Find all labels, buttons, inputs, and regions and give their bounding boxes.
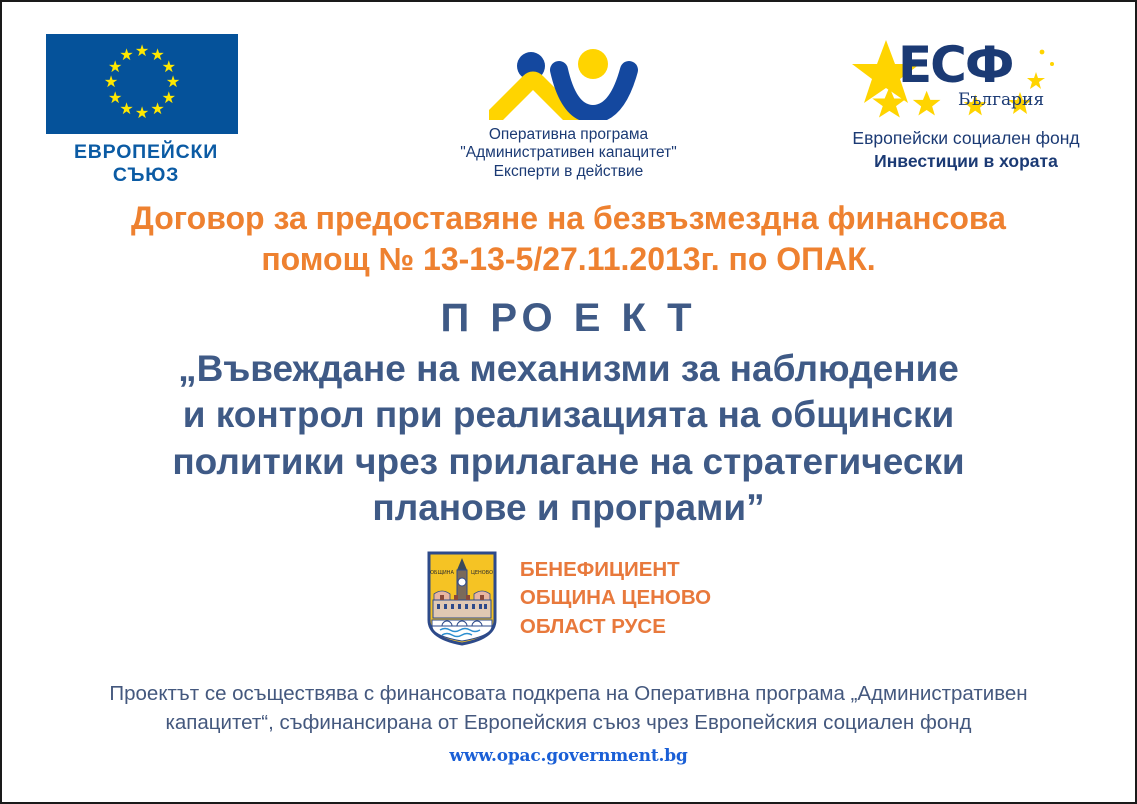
esf-country: България (958, 90, 1044, 110)
poster-canvas: ★★★★★★★★★★★★ ЕВРОПЕЙСКИ СЪЮЗ Оперативна … (0, 0, 1137, 804)
project-title-line-2: и контрол при реализацията на общински (40, 392, 1097, 438)
footer-line-1: Проектът се осъществява с финансовата по… (62, 680, 1075, 709)
eu-logo-block: ★★★★★★★★★★★★ ЕВРОПЕЙСКИ СЪЮЗ (46, 34, 246, 187)
project-title-line-4: планове и програми” (40, 485, 1097, 531)
contract-heading: Договор за предоставяне на безвъзмездна … (42, 198, 1095, 280)
opac-website-link[interactable]: www.opac.government.bg (62, 746, 1075, 766)
svg-text:ОБЩИНА: ОБЩИНА (430, 570, 454, 576)
beneficiary-line-1: БЕНЕФИЦИЕНТ (520, 556, 711, 584)
project-title: „Въвеждане на механизми за наблюдение и … (40, 346, 1097, 531)
beneficiary-block: ОБЩИНА ЦЕНОВО (2, 550, 1135, 647)
project-title-line-1: „Въвеждане на механизми за наблюдение (40, 346, 1097, 392)
esf-acronym: ЕСФ (898, 36, 1012, 94)
footer-line-2: капацитет“, съфинансирана от Европейския… (62, 709, 1075, 738)
esf-logo-block: ЕСФ България Европейски социален фонд Ин… (841, 34, 1091, 172)
opac-caption: Оперативна програма "Административен кап… (419, 126, 719, 181)
logo-header: ★★★★★★★★★★★★ ЕВРОПЕЙСКИ СЪЮЗ Оперативна … (2, 2, 1135, 192)
opac-caption-line-3: Експерти в действие (419, 163, 719, 181)
beneficiary-line-2: ОБЩИНА ЦЕНОВО (520, 584, 711, 612)
footer-disclaimer: Проектът се осъществява с финансовата по… (62, 680, 1075, 737)
esf-caption-line-2: Инвестиции в хората (841, 151, 1091, 172)
esf-caption-line-1: Европейски социален фонд (841, 128, 1091, 149)
tsenovo-coat-of-arms-icon: ОБЩИНА ЦЕНОВО (426, 550, 498, 647)
svg-text:ЦЕНОВО: ЦЕНОВО (471, 570, 493, 576)
opac-logo-block: Оперативна програма "Административен кап… (419, 48, 719, 181)
opac-people-icon (489, 48, 649, 120)
opac-caption-line-2: "Административен капацитет" (419, 144, 719, 162)
eu-flag-icon: ★★★★★★★★★★★★ (46, 34, 238, 134)
project-title-line-3: политики чрез прилагане на стратегически (40, 439, 1097, 485)
esf-mark-icon: ЕСФ България (846, 34, 1086, 126)
beneficiary-line-3: ОБЛАСТ РУСЕ (520, 613, 711, 641)
opac-caption-line-1: Оперативна програма (419, 126, 719, 144)
project-word: П РО Е К Т (2, 296, 1135, 341)
footer-block: Проектът се осъществява с финансовата по… (62, 680, 1075, 766)
beneficiary-text: БЕНЕФИЦИЕНТ ОБЩИНА ЦЕНОВО ОБЛАСТ РУСЕ (520, 550, 711, 641)
contract-heading-line-2: помощ № 13-13-5/27.11.2013г. по ОПАК. (42, 239, 1095, 280)
contract-heading-line-1: Договор за предоставяне на безвъзмездна … (42, 198, 1095, 239)
eu-label: ЕВРОПЕЙСКИ СЪЮЗ (46, 141, 246, 187)
